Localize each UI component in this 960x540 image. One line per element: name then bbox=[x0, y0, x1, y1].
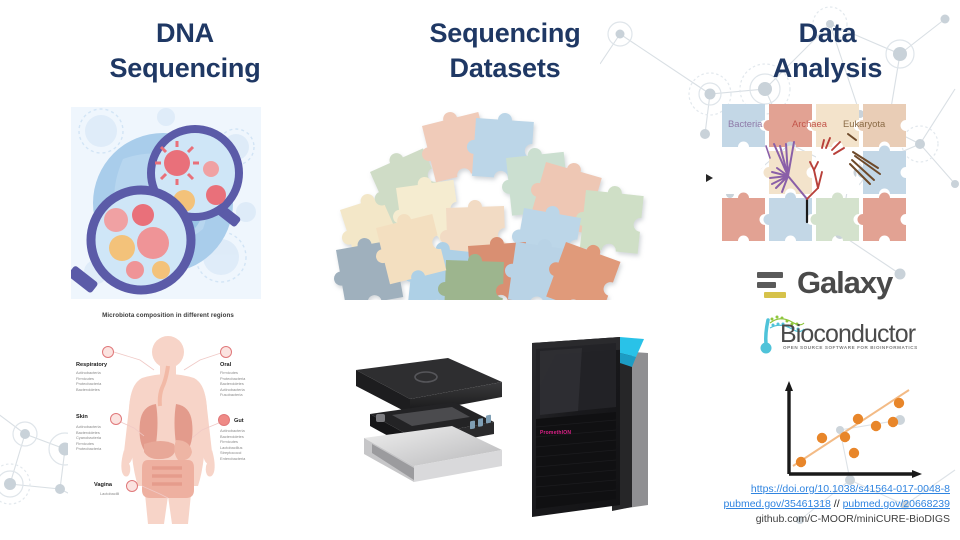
scatter-y-axis-arrow bbox=[785, 381, 793, 391]
microbiota-composition-figure: Microbiota composition in different regi… bbox=[68, 308, 268, 524]
column-title-sequencing-datasets: Sequencing Datasets bbox=[375, 16, 635, 85]
human-body-diagram bbox=[68, 308, 268, 524]
tree-domain-label-eukaryota: Eukaryota bbox=[843, 118, 885, 129]
scatter-plot-illustration bbox=[775, 378, 925, 482]
bioconductor-tagline: OPEN SOURCE SOFTWARE FOR BIOINFORMATICS bbox=[783, 345, 918, 350]
region-label-oral: Oral bbox=[220, 362, 231, 368]
tree-domain-label-archaea: Archaea bbox=[792, 118, 827, 129]
title-line-2: Datasets bbox=[375, 51, 635, 86]
play-arrow-icon bbox=[706, 174, 713, 182]
region-taxa-gut: Actinobacteria Bacteroidetes Firmicutes … bbox=[220, 428, 245, 461]
puzzle-pieces-pile bbox=[318, 100, 678, 300]
organ-icon-vagina bbox=[126, 480, 138, 492]
region-taxa-oral: Firmicutes Proteobacteria Bacteroidetes … bbox=[220, 370, 245, 398]
region-label-gut: Gut bbox=[234, 418, 244, 424]
title-line-1: Data bbox=[700, 16, 955, 51]
reference-links: https://doi.org/10.1038/s41564-017-0048-… bbox=[600, 482, 950, 527]
column-title-dna-sequencing: DNA Sequencing bbox=[55, 16, 315, 85]
tree-of-life-puzzle: Bacteria Archaea Eukaryota bbox=[722, 104, 918, 252]
organ-icon-oral bbox=[220, 346, 232, 358]
bioconductor-logo: Bioconductor OPEN SOURCE SOFTWARE FOR BI… bbox=[752, 312, 922, 356]
organ-icon-gut bbox=[218, 414, 230, 426]
slide-canvas: DNA Sequencing Sequencing Datasets Data … bbox=[0, 0, 960, 540]
pubmed-link-2[interactable]: pubmed.gov/20668239 bbox=[843, 498, 950, 510]
link-line-1: https://doi.org/10.1038/s41564-017-0048-… bbox=[600, 482, 950, 497]
region-taxa-skin: Actinobacteria Bacteroidetes Cyanobacter… bbox=[76, 424, 101, 452]
link-line-2: pubmed.gov/35461318 // pubmed.gov/206682… bbox=[600, 497, 950, 512]
galaxy-logo: Galaxy bbox=[757, 268, 917, 306]
title-line-1: Sequencing bbox=[375, 16, 635, 51]
scatter-x-axis-arrow bbox=[912, 470, 922, 478]
galaxy-wordmark: Galaxy bbox=[797, 265, 892, 301]
galaxy-logo-bar-1 bbox=[757, 272, 783, 278]
region-taxa-respiratory: Actinobacteria Firmicutes Proteobacteria… bbox=[76, 370, 101, 392]
column-title-data-analysis: Data Analysis bbox=[700, 16, 955, 85]
organ-icon-respiratory bbox=[102, 346, 114, 358]
galaxy-logo-bar-3 bbox=[764, 292, 786, 298]
galaxy-logo-bar-2 bbox=[757, 282, 776, 288]
tree-domain-label-bacteria: Bacteria bbox=[728, 118, 762, 129]
minion-sequencer-illustration bbox=[330, 352, 530, 492]
region-label-skin: Skin bbox=[76, 414, 88, 420]
title-line-1: DNA bbox=[55, 16, 315, 51]
link-separator: // bbox=[831, 498, 843, 510]
globe-magnifier-illustration bbox=[71, 107, 261, 299]
title-line-2: Analysis bbox=[700, 51, 955, 86]
region-taxa-vagina: Lactobacilli bbox=[100, 491, 119, 497]
globe-magnifier-svg bbox=[71, 107, 261, 299]
link-line-3: github.com/C-MOOR/miniCURE-BioDIGS bbox=[600, 512, 950, 527]
title-line-2: Sequencing bbox=[55, 51, 315, 86]
promethion-brand-text: PromethION bbox=[540, 430, 571, 436]
pubmed-link-1[interactable]: pubmed.gov/35461318 bbox=[723, 498, 830, 510]
region-label-vagina: Vagina bbox=[94, 482, 112, 488]
doi-link[interactable]: https://doi.org/10.1038/s41564-017-0048-… bbox=[751, 483, 950, 495]
scatter-points bbox=[796, 398, 904, 467]
region-label-respiratory: Respiratory bbox=[76, 362, 107, 368]
organ-icon-skin bbox=[110, 413, 122, 425]
